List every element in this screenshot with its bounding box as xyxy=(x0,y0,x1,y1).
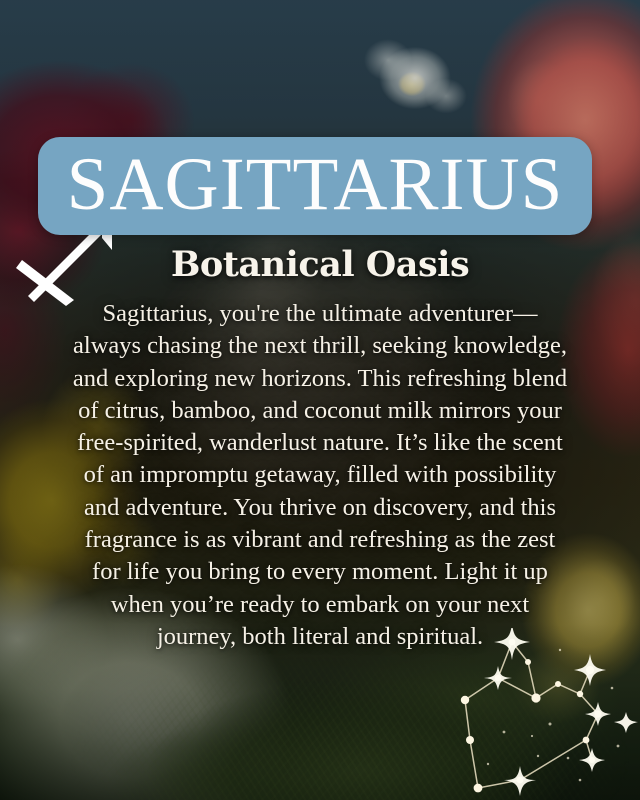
product-name-heading: Botanical Oasis xyxy=(0,247,640,282)
paragraph-line: fragrance is as vibrant and refreshing a… xyxy=(48,524,592,556)
paragraph-line: journey, both literal and spiritual. xyxy=(48,621,592,653)
paragraph-line: free-spirited, wanderlust nature. It’s l… xyxy=(48,427,592,459)
zodiac-title-banner: SAGITTARIUS xyxy=(38,137,592,235)
paragraph-line: and exploring new horizons. This refresh… xyxy=(48,363,592,395)
paragraph-line: always chasing the next thrill, seeking … xyxy=(48,330,592,362)
sparkle-star-icon xyxy=(46,88,84,136)
sparkle-star-icon xyxy=(26,56,44,76)
paragraph-line: Sagittarius, you're the ultimate adventu… xyxy=(48,298,592,330)
zodiac-sign-title: SAGITTARIUS xyxy=(67,147,564,222)
zodiac-poster: SAGITTARIUS Botanical Oasis Sagittarius,… xyxy=(0,0,640,800)
paragraph-line: of an impromptu getaway, filled with pos… xyxy=(48,459,592,491)
paragraph-line: when you’re ready to embark on your next xyxy=(48,589,592,621)
paragraph-line: for life you bring to every moment. Ligh… xyxy=(48,556,592,588)
paragraph-line: and adventure. You thrive on discovery, … xyxy=(48,492,592,524)
paragraph-line: of citrus, bamboo, and coconut milk mirr… xyxy=(48,395,592,427)
description-paragraph: Sagittarius, you're the ultimate adventu… xyxy=(48,298,592,653)
